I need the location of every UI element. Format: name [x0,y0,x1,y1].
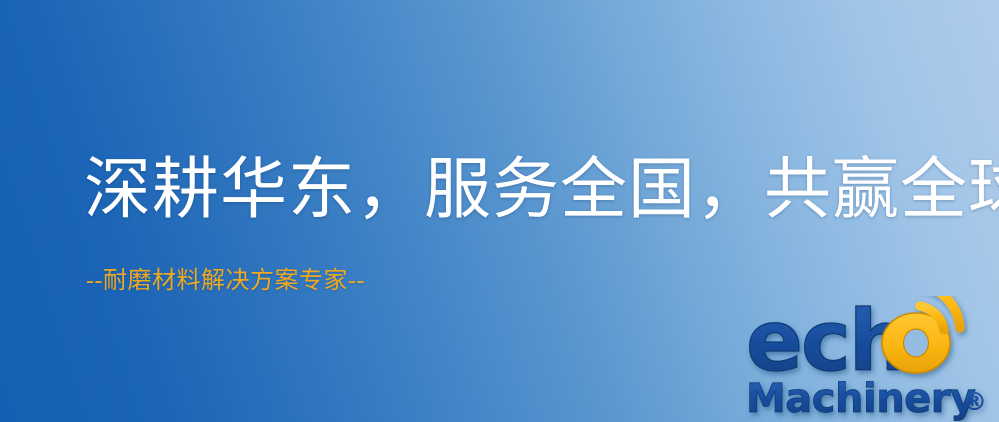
hero-banner: 深耕华东，服务全国，共赢全球 --耐磨材料解决方案专家-- [0,0,999,422]
logo-svg: ech Machinery ® [744,296,999,422]
logo-registered-mark: ® [962,387,987,416]
echo-machinery-logo: ech Machinery ® [744,296,999,422]
logo-tagline-group: Machinery ® [746,376,987,422]
logo-text-machinery: Machinery [746,376,976,422]
banner-headline: 深耕华东，服务全国，共赢全球 [84,152,999,228]
banner-subtitle: --耐磨材料解决方案专家-- [86,266,365,296]
